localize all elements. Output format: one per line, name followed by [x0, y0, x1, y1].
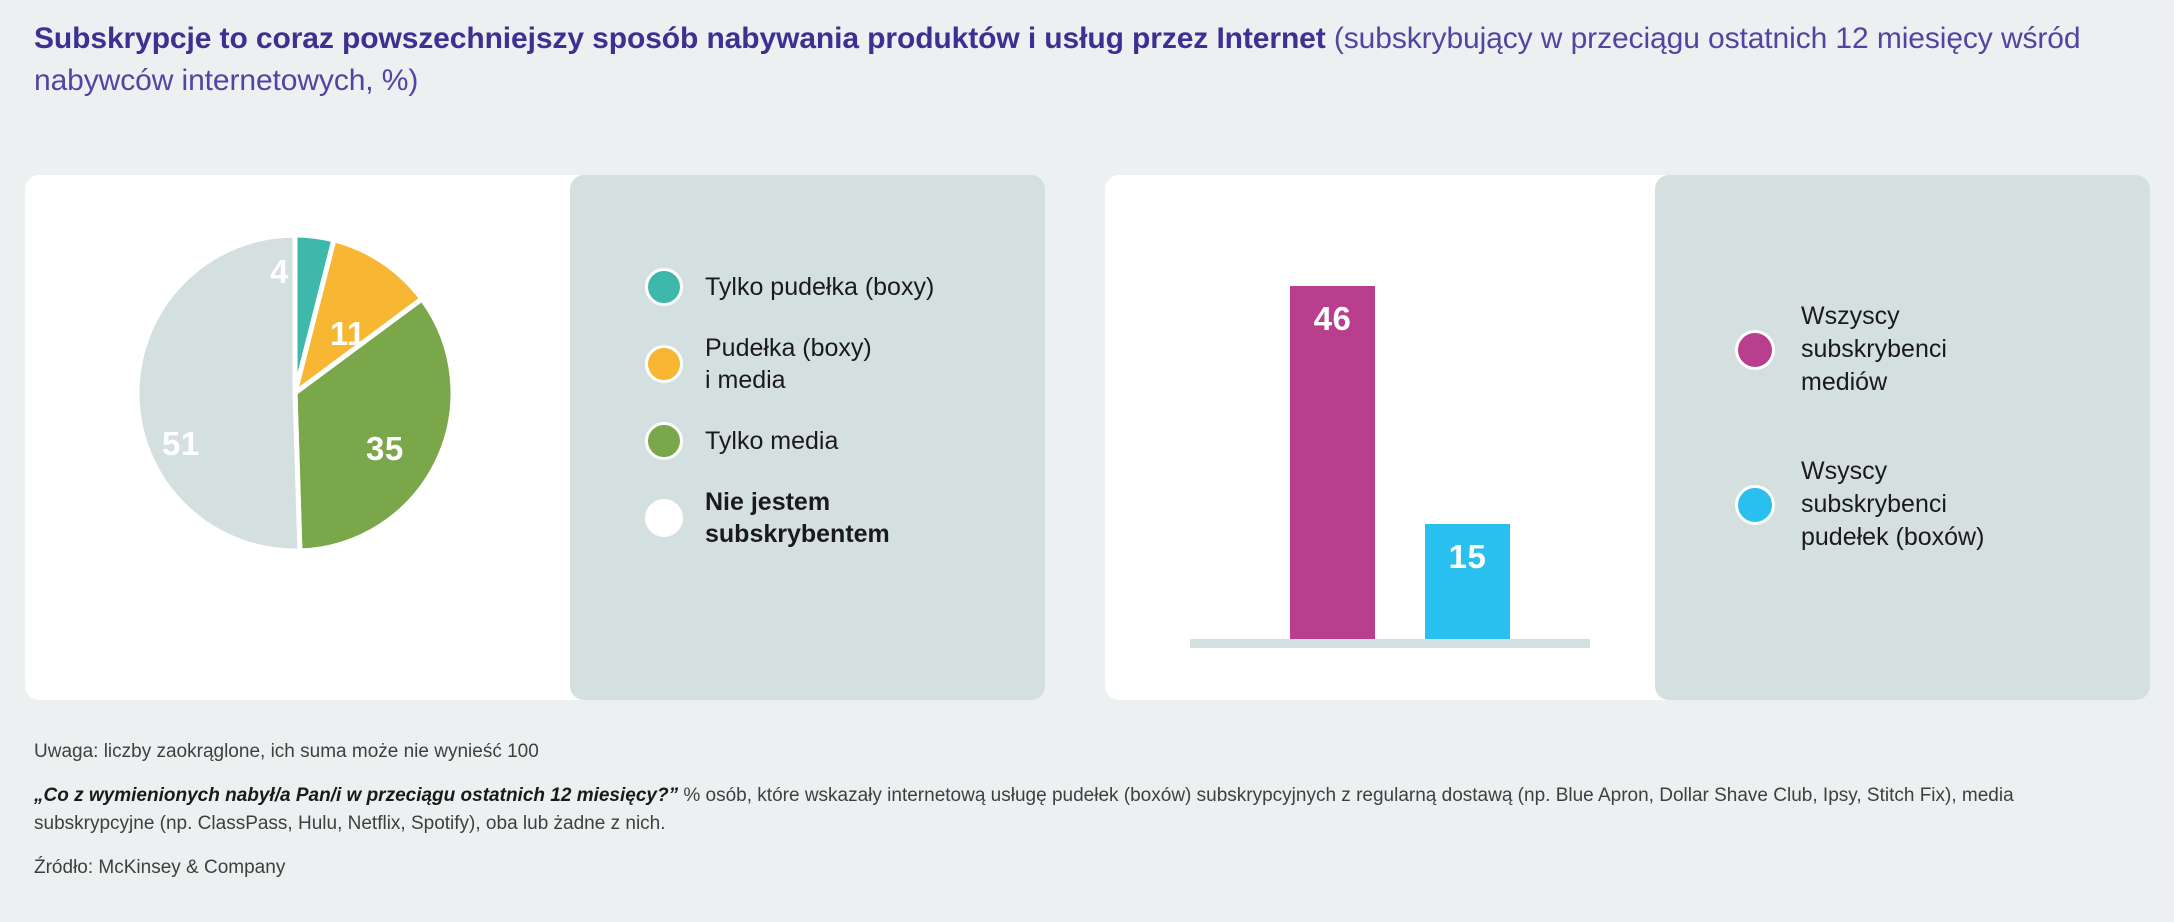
legend-item-all-box-subscribers[interactable]: Wsyscy subskrybenci pudełek (boxów): [1735, 455, 2135, 554]
legend-item-label: Pudełka (boxy) i media: [705, 332, 872, 396]
legend-item-label: Tylko pudełka (boxy): [705, 271, 934, 303]
footnotes: Uwaga: liczby zaokrąglone, ich suma może…: [34, 738, 2134, 898]
legend-swatch-icon: [645, 345, 683, 383]
legend-item-media-only[interactable]: Tylko media: [645, 422, 1025, 460]
page-title: Subskrypcje to coraz powszechniejszy spo…: [34, 18, 2114, 102]
legend-item-label: Tylko media: [705, 425, 838, 457]
bar-value-label: 15: [1449, 538, 1487, 639]
bar-legend-list: Wszyscy subskrybenci mediów Wsyscy subsk…: [1735, 300, 2135, 610]
legend-item-label: Wszyscy subskrybenci mediów: [1801, 300, 1947, 399]
legend-swatch-icon: [645, 499, 683, 537]
pie-chart: [130, 228, 460, 558]
legend-item-not-subscriber[interactable]: Nie jestem subskrybentem: [645, 486, 1025, 550]
legend-item-boxes-and-media[interactable]: Pudełka (boxy) i media: [645, 332, 1025, 396]
pie-legend-list: Tylko pudełka (boxy) Pudełka (boxy) i me…: [645, 268, 1025, 576]
legend-item-label: Wsyscy subskrybenci pudełek (boxów): [1801, 455, 1984, 554]
pie-chart-svg: [130, 228, 460, 558]
bar-all-media-subscribers[interactable]: 46: [1290, 286, 1375, 639]
bar-all-box-subscribers[interactable]: 15: [1425, 524, 1510, 639]
legend-item-all-media-subscribers[interactable]: Wszyscy subskrybenci mediów: [1735, 300, 2135, 399]
footnote-question: „Co z wymienionych nabył/a Pan/i w przec…: [34, 785, 678, 806]
legend-item-boxes-only[interactable]: Tylko pudełka (boxy): [645, 268, 1025, 306]
legend-swatch-icon: [1735, 330, 1775, 370]
footnote-question-block: „Co z wymienionych nabył/a Pan/i w przec…: [34, 782, 2134, 838]
legend-item-label: Nie jestem subskrybentem: [705, 486, 890, 550]
page-title-strong: Subskrypcje to coraz powszechniejszy spo…: [34, 22, 1326, 55]
legend-swatch-icon: [645, 422, 683, 460]
footnote-note: Uwaga: liczby zaokrąglone, ich suma może…: [34, 738, 2134, 766]
pie-slice[interactable]: [137, 235, 300, 551]
legend-swatch-icon: [1735, 485, 1775, 525]
footnote-source: Źródło: McKinsey & Company: [34, 854, 2134, 882]
bar-chart: 46 15: [1105, 175, 1655, 700]
bar-chart-baseline: [1190, 639, 1590, 648]
bar-value-label: 46: [1314, 300, 1352, 639]
legend-swatch-icon: [645, 268, 683, 306]
